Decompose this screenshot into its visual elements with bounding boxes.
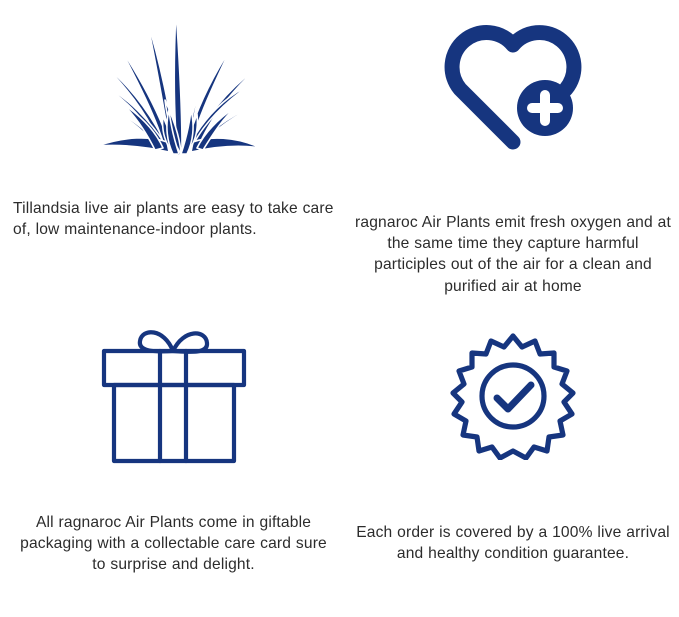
feature-panel-air-plant-care: Tillandsia live air plants are easy to t… — [0, 0, 347, 310]
feature-panel-arrival-guarantee: Each order is covered by a 100% live arr… — [347, 310, 679, 617]
feature-caption: All ragnaroc Air Plants come in giftable… — [18, 512, 330, 576]
heart-plus-icon — [347, 0, 679, 212]
verified-badge-icon — [347, 310, 679, 522]
feature-panel-giftable-packaging: All ragnaroc Air Plants come in giftable… — [0, 310, 347, 617]
feature-caption: ragnaroc Air Plants emit fresh oxygen an… — [354, 212, 672, 297]
gift-box-icon — [0, 310, 347, 512]
feature-caption: Tillandsia live air plants are easy to t… — [13, 198, 338, 240]
feature-panel-fresh-oxygen: ragnaroc Air Plants emit fresh oxygen an… — [347, 0, 679, 310]
air-plant-icon — [0, 0, 347, 198]
feature-caption: Each order is covered by a 100% live arr… — [354, 522, 672, 564]
feature-grid: Tillandsia live air plants are easy to t… — [0, 0, 679, 617]
